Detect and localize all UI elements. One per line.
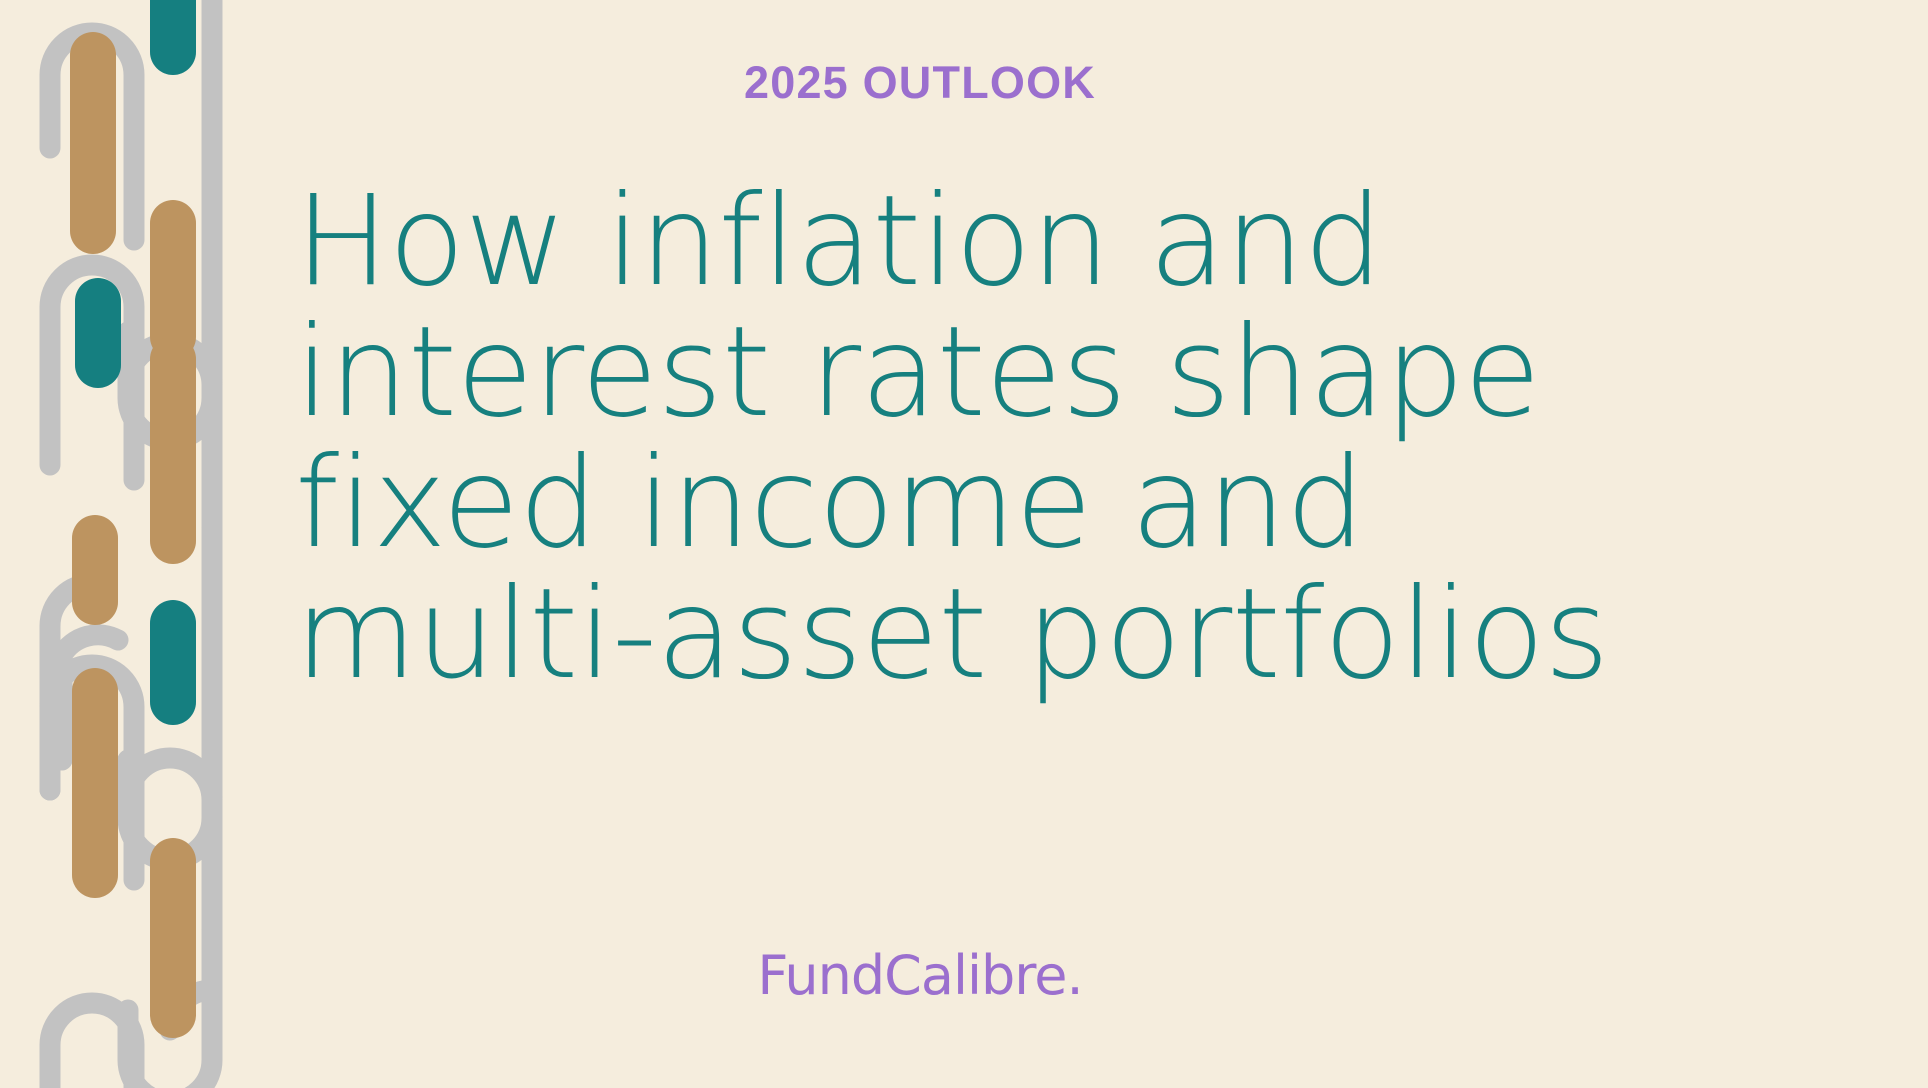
slide-canvas: 2025 OUTLOOK How inflation and interest … bbox=[0, 0, 1928, 1088]
teal-capsule-2 bbox=[75, 278, 121, 388]
gold-capsule-3 bbox=[150, 336, 196, 564]
gold-capsule-6 bbox=[150, 838, 196, 1038]
content-column: 2025 OUTLOOK How inflation and interest … bbox=[270, 0, 1928, 1088]
teal-capsule-3 bbox=[150, 600, 196, 725]
decorative-chain-link-band bbox=[0, 0, 270, 1088]
eyebrow-label: 2025 OUTLOOK bbox=[270, 58, 1570, 108]
fundcalibre-logo: FundCalibre. bbox=[270, 944, 1570, 1007]
headline-line-2: interest rates shape bbox=[295, 307, 1895, 438]
page-title: How inflation and interest rates shape f… bbox=[295, 176, 1895, 700]
chain-link-pattern-svg bbox=[0, 0, 270, 1088]
headline-line-3: fixed income and bbox=[295, 438, 1895, 569]
headline-line-4: multi-asset portfolios bbox=[295, 569, 1895, 700]
headline-line-1: How inflation and bbox=[295, 176, 1895, 307]
gold-capsule-5 bbox=[72, 668, 118, 898]
gold-capsule-4 bbox=[72, 515, 118, 625]
gold-capsule-1 bbox=[70, 32, 116, 254]
teal-capsule-1 bbox=[150, 0, 196, 75]
